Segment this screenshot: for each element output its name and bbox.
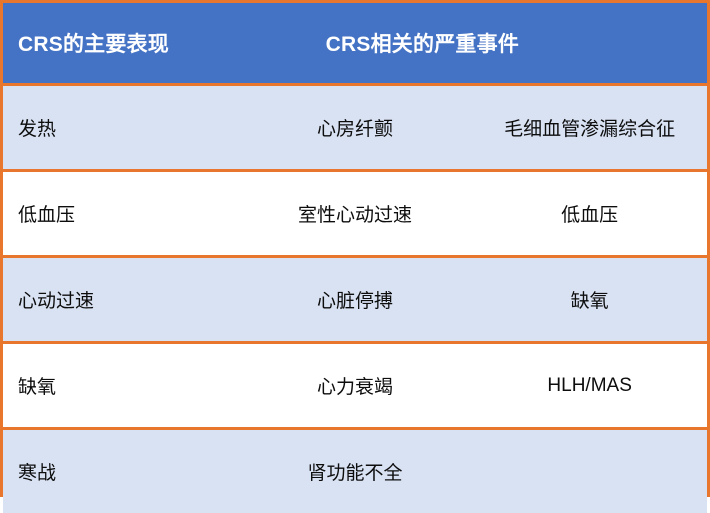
table-body: 发热 心房纤颤 毛细血管渗漏综合征 低血压 室性心动过速 低血压 心动过速 心脏…	[3, 85, 707, 513]
table-row: 发热 心房纤颤 毛细血管渗漏综合征	[3, 85, 707, 171]
cell-serious-event-b: HLH/MAS	[472, 343, 707, 429]
table-row: 缺氧 心力衰竭 HLH/MAS	[3, 343, 707, 429]
cell-serious-event-a: 室性心动过速	[238, 171, 473, 257]
cell-manifestation: 低血压	[3, 171, 238, 257]
table-row: 心动过速 心脏停搏 缺氧	[3, 257, 707, 343]
table-header-row: CRS的主要表现 CRS相关的严重事件	[3, 3, 707, 85]
cell-serious-event-b: 缺氧	[472, 257, 707, 343]
column-header-serious-events: CRS相关的严重事件	[238, 3, 707, 85]
column-header-main-manifestations: CRS的主要表现	[3, 3, 238, 85]
cell-serious-event-a: 肾功能不全	[238, 429, 473, 513]
crs-symptoms-table: CRS的主要表现 CRS相关的严重事件 发热 心房纤颤 毛细血管渗漏综合征 低血…	[3, 3, 707, 513]
table-header: CRS的主要表现 CRS相关的严重事件	[3, 3, 707, 85]
cell-serious-event-a: 心脏停搏	[238, 257, 473, 343]
cell-manifestation: 心动过速	[3, 257, 238, 343]
cell-serious-event-a: 心房纤颤	[238, 85, 473, 171]
cell-serious-event-a: 心力衰竭	[238, 343, 473, 429]
crs-table-frame: CRS的主要表现 CRS相关的严重事件 发热 心房纤颤 毛细血管渗漏综合征 低血…	[0, 0, 710, 497]
cell-serious-event-b: 低血压	[472, 171, 707, 257]
table-row: 寒战 肾功能不全	[3, 429, 707, 513]
cell-serious-event-b	[472, 429, 707, 513]
cell-serious-event-b: 毛细血管渗漏综合征	[472, 85, 707, 171]
table-row: 低血压 室性心动过速 低血压	[3, 171, 707, 257]
cell-manifestation: 发热	[3, 85, 238, 171]
cell-manifestation: 寒战	[3, 429, 238, 513]
cell-manifestation: 缺氧	[3, 343, 238, 429]
